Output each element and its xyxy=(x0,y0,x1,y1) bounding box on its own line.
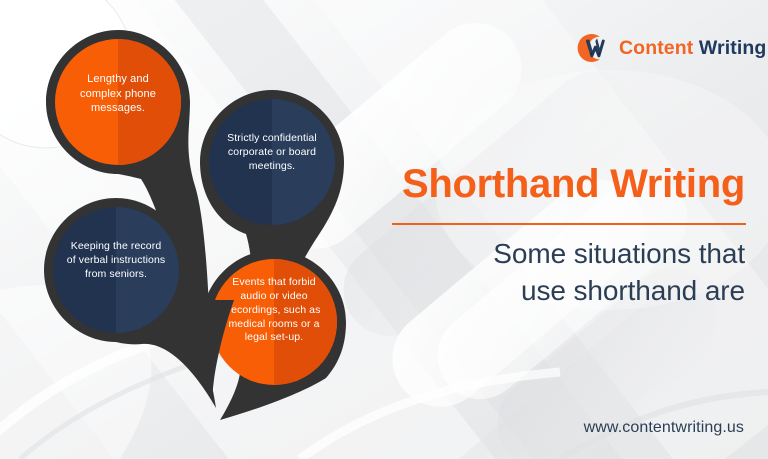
brand-name: Content Writing xyxy=(619,37,766,60)
subtitle-line-1: Some situations that xyxy=(315,236,745,273)
cw-monogram-pen-icon xyxy=(570,27,612,69)
brand-name-part-2: Writing xyxy=(699,37,767,59)
page-subtitle: Some situations that use shorthand are xyxy=(315,236,745,310)
page-title: Shorthand Writing xyxy=(325,164,745,204)
subtitle-line-2: use shorthand are xyxy=(315,273,745,310)
brand-name-part-1: Content xyxy=(619,37,693,59)
website-url[interactable]: www.contentwriting.us xyxy=(584,419,744,437)
infographic-canvas: Lengthy and complex phone messages. Stri… xyxy=(0,0,768,459)
pin-stem-connector xyxy=(150,300,270,420)
title-divider xyxy=(392,223,746,225)
brand-logo[interactable]: Content Writing xyxy=(570,27,766,69)
